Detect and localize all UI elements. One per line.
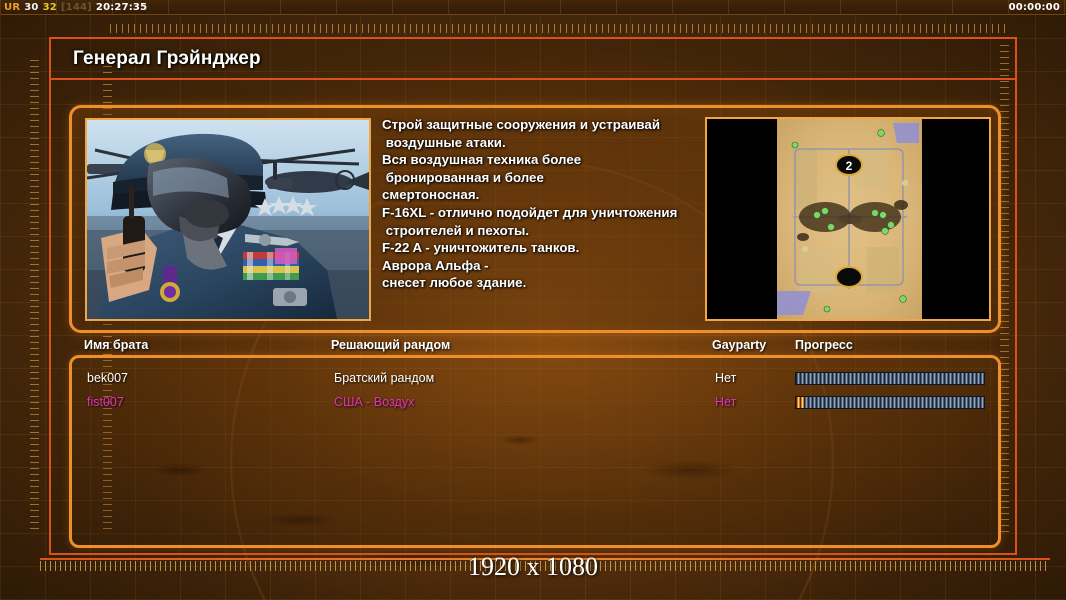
status-timer: 00:00:00 — [1009, 0, 1060, 15]
title-bar: Генерал Грэйнджер — [51, 39, 1015, 80]
general-info-panel: Строй защитные сооружения и устраивай во… — [69, 105, 1001, 333]
progress-bar-lead — [796, 397, 804, 408]
player-party[interactable]: Нет — [715, 395, 736, 409]
general-portrait — [85, 118, 371, 321]
status-tag: UR — [4, 2, 20, 13]
map-marker-2: 2 — [836, 155, 862, 175]
progress-bar — [795, 372, 985, 385]
status-bar: UR 30 32 [144] 20:27:35 00:00:00 — [0, 0, 1066, 15]
status-bracket-value: [144] — [61, 2, 92, 13]
map-preview-image: 2 — [707, 119, 989, 319]
progress-bar-fill — [796, 397, 984, 408]
status-clock: 20:27:35 — [96, 2, 147, 13]
map-marker-empty — [836, 267, 862, 287]
player-table-header: Имя брата Решающий рандом Gayparty Прогр… — [69, 338, 1001, 356]
ruler-left-outer — [30, 60, 39, 530]
status-value-2: 32 — [43, 2, 57, 13]
ruler-top — [110, 24, 1010, 33]
column-header-faction: Решающий рандом — [331, 338, 450, 352]
status-value-1: 30 — [24, 2, 38, 13]
resolution-label: 1920 x 1080 — [0, 552, 1066, 582]
status-bar-grid — [0, 0, 1066, 14]
progress-bar-fill — [796, 373, 984, 384]
map-preview: 2 — [705, 117, 991, 321]
status-bar-left: UR 30 32 [144] 20:27:35 — [0, 2, 147, 13]
page-title: Генерал Грэйнджер — [73, 48, 261, 70]
player-name: bek007 — [87, 371, 128, 385]
general-portrait-image — [87, 120, 369, 319]
progress-bar — [795, 396, 985, 409]
player-name: fist007 — [87, 395, 124, 409]
game-menu-screen: UR 30 32 [144] 20:27:35 00:00:00 Генерал… — [0, 0, 1066, 600]
svg-text:2: 2 — [846, 159, 853, 173]
player-progress — [795, 372, 987, 385]
column-header-party: Gayparty — [712, 338, 766, 352]
player-faction[interactable]: Братский рандом — [334, 371, 434, 385]
player-progress — [795, 396, 987, 409]
table-row[interactable]: fist007 США - Воздух Нет — [72, 390, 998, 414]
player-list-panel: bek007 Братский рандом Нет fist007 США -… — [69, 355, 1001, 548]
player-faction[interactable]: США - Воздух — [334, 395, 414, 409]
table-row[interactable]: bek007 Братский рандом Нет — [72, 366, 998, 390]
player-party[interactable]: Нет — [715, 371, 736, 385]
column-header-progress: Прогресс — [795, 338, 853, 352]
column-header-name: Имя брата — [84, 338, 148, 352]
